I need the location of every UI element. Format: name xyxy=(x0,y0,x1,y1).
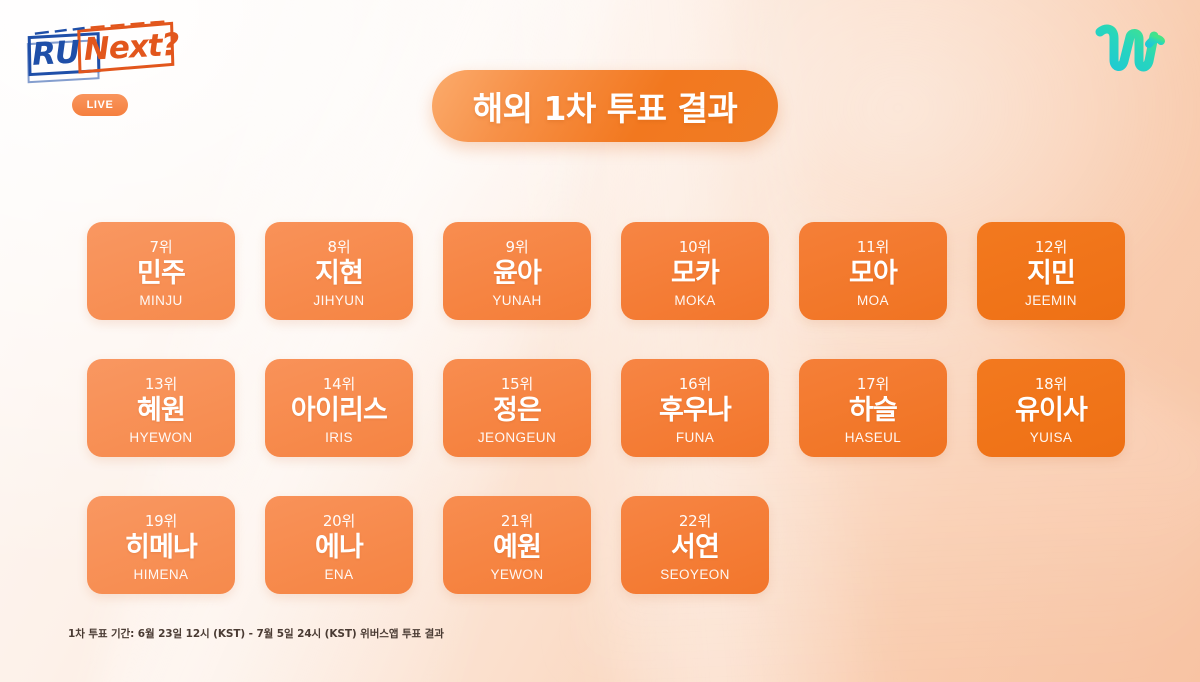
results-graphic: RU Next? LIVE 해외 1차 투표 결과 7위 민주 xyxy=(0,0,1200,682)
name-romanized: HYEWON xyxy=(129,430,192,445)
rank-label: 13위 xyxy=(145,373,177,394)
name-romanized: FUNA xyxy=(676,430,714,445)
name-romanized: MOKA xyxy=(674,293,715,308)
rank-card[interactable]: 12위 지민 JEEMIN xyxy=(977,222,1125,320)
name-korean: 혜원 xyxy=(137,397,185,425)
rank-label: 21위 xyxy=(501,510,533,531)
name-romanized: HIMENA xyxy=(134,567,189,582)
name-romanized: YEWON xyxy=(490,567,543,582)
ranking-grid: 7위 민주 MINJU 8위 지현 JIHYUN 9위 윤아 YUNAH 10위… xyxy=(87,222,1127,633)
rank-label: 7위 xyxy=(150,236,173,257)
rank-card[interactable]: 10위 모카 MOKA xyxy=(621,222,769,320)
rank-card[interactable]: 22위 서연 SEOYEON xyxy=(621,496,769,594)
name-korean: 에나 xyxy=(315,534,363,562)
name-romanized: IRIS xyxy=(325,430,353,445)
name-romanized: YUNAH xyxy=(492,293,541,308)
name-korean: 아이리스 xyxy=(291,397,387,425)
rank-label: 11위 xyxy=(857,236,889,257)
rank-label: 19위 xyxy=(145,510,177,531)
name-korean: 민주 xyxy=(137,260,185,288)
name-korean: 후우나 xyxy=(659,397,731,425)
name-korean: 지민 xyxy=(1027,260,1075,288)
name-romanized: ENA xyxy=(325,567,354,582)
name-romanized: JIHYUN xyxy=(313,293,364,308)
name-korean: 유이사 xyxy=(1015,397,1087,425)
name-korean: 모카 xyxy=(671,260,719,288)
page-title-pill: 해외 1차 투표 결과 xyxy=(432,70,778,142)
rank-card[interactable]: 21위 예원 YEWON xyxy=(443,496,591,594)
page-title: 해외 1차 투표 결과 xyxy=(473,82,737,130)
name-romanized: JEEMIN xyxy=(1025,293,1077,308)
logo-mark: RU Next? xyxy=(25,22,180,82)
rank-label: 16위 xyxy=(679,373,711,394)
rank-label: 10위 xyxy=(679,236,711,257)
rank-card[interactable]: 9위 윤아 YUNAH xyxy=(443,222,591,320)
name-korean: 정은 xyxy=(493,397,541,425)
rank-card[interactable]: 19위 히메나 HIMENA xyxy=(87,496,235,594)
weverse-logo-icon xyxy=(1088,22,1166,84)
name-korean: 지현 xyxy=(315,260,363,288)
rank-card[interactable]: 11위 모아 MOA xyxy=(799,222,947,320)
name-korean: 하슬 xyxy=(849,397,897,425)
name-korean: 모아 xyxy=(849,260,897,288)
name-romanized: MOA xyxy=(857,293,889,308)
name-romanized: HASEUL xyxy=(845,430,901,445)
name-korean: 히메나 xyxy=(125,534,197,562)
rank-label: 9위 xyxy=(506,236,529,257)
rank-label: 8위 xyxy=(328,236,351,257)
rank-card[interactable]: 16위 후우나 FUNA xyxy=(621,359,769,457)
rank-label: 18위 xyxy=(1035,373,1067,394)
rank-card[interactable]: 17위 하슬 HASEUL xyxy=(799,359,947,457)
live-badge: LIVE xyxy=(72,94,128,116)
rank-card[interactable]: 13위 혜원 HYEWON xyxy=(87,359,235,457)
rank-label: 15위 xyxy=(501,373,533,394)
name-romanized: YUISA xyxy=(1030,430,1073,445)
name-korean: 서연 xyxy=(671,534,719,562)
rank-label: 20위 xyxy=(323,510,355,531)
logo-text-next: Next? xyxy=(83,27,180,68)
rank-label: 14위 xyxy=(323,373,355,394)
show-logo: RU Next? LIVE xyxy=(26,26,196,116)
ranking-row: 19위 히메나 HIMENA 20위 에나 ENA 21위 예원 YEWON 2… xyxy=(87,496,1127,594)
rank-card[interactable]: 18위 유이사 YUISA xyxy=(977,359,1125,457)
name-korean: 예원 xyxy=(493,534,541,562)
rank-card[interactable]: 7위 민주 MINJU xyxy=(87,222,235,320)
voting-period-note: 1차 투표 기간: 6월 23일 12시 (KST) - 7월 5일 24시 (… xyxy=(68,626,444,641)
logo-text-ru: RU xyxy=(31,34,80,73)
rank-label: 12위 xyxy=(1035,236,1067,257)
rank-label: 22위 xyxy=(679,510,711,531)
ranking-row: 13위 혜원 HYEWON 14위 아이리스 IRIS 15위 정은 JEONG… xyxy=(87,359,1127,457)
rank-card[interactable]: 14위 아이리스 IRIS xyxy=(265,359,413,457)
rank-card[interactable]: 20위 에나 ENA xyxy=(265,496,413,594)
name-romanized: SEOYEON xyxy=(660,567,730,582)
ranking-row: 7위 민주 MINJU 8위 지현 JIHYUN 9위 윤아 YUNAH 10위… xyxy=(87,222,1127,320)
name-romanized: MINJU xyxy=(139,293,182,308)
rank-card[interactable]: 15위 정은 JEONGEUN xyxy=(443,359,591,457)
name-korean: 윤아 xyxy=(493,260,541,288)
rank-card[interactable]: 8위 지현 JIHYUN xyxy=(265,222,413,320)
rank-label: 17위 xyxy=(857,373,889,394)
name-romanized: JEONGEUN xyxy=(478,430,556,445)
